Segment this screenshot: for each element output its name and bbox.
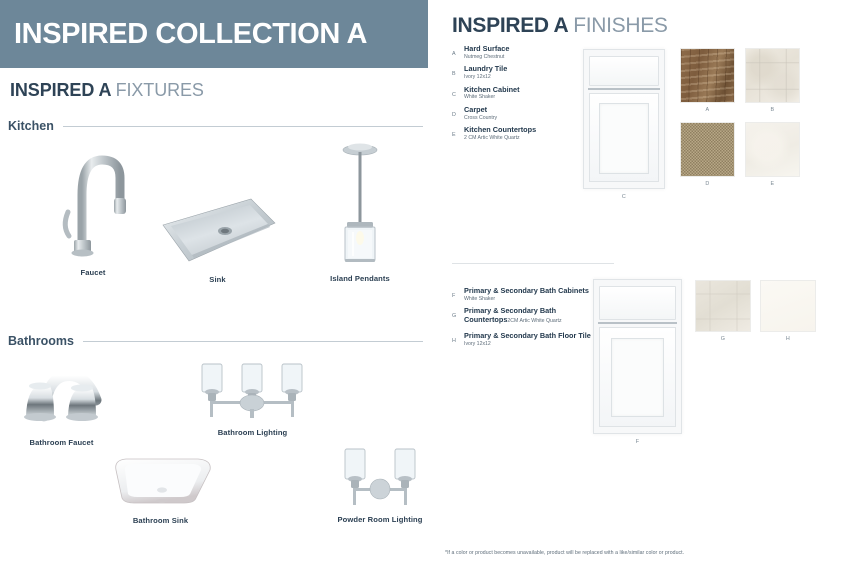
section-header-kitchen: Kitchen <box>8 119 423 133</box>
swatch-image <box>745 48 800 103</box>
cabinet-door-face <box>589 93 659 183</box>
swatch-carpet: D <box>680 122 735 187</box>
legend-name: Primary & Secondary Bath Cabinets <box>464 286 612 295</box>
fixture-label: Faucet <box>38 268 148 277</box>
fixture-label: Powder Room Lighting <box>325 515 435 524</box>
fixture-kitchen-faucet: Faucet <box>38 140 148 277</box>
legend-name: Kitchen Countertops <box>464 125 602 134</box>
legend-item: G Primary & Secondary Bath Countertops2C… <box>452 306 612 325</box>
swatch-laundry-tile: B <box>745 48 800 113</box>
fixture-label: Bathroom Lighting <box>190 428 315 437</box>
legend-key: H <box>452 331 464 344</box>
legend-name: Hard Surface <box>464 44 602 53</box>
cabinet-drawer <box>599 286 676 320</box>
legend-key: D <box>452 105 464 118</box>
bathroom-faucet-icon <box>4 360 119 435</box>
finishes-heading: INSPIRED A FINISHES <box>452 14 668 38</box>
legend-item: C Kitchen Cabinet White Shaker <box>452 85 602 101</box>
section-label-bathrooms: Bathrooms <box>8 334 83 348</box>
legend-item: D Carpet Cross Country <box>452 105 602 121</box>
legend-name: Kitchen Cabinet <box>464 85 602 94</box>
legend-sub: Cross Country <box>464 115 602 122</box>
cabinet-door-graphic <box>593 279 682 434</box>
legend-name: Carpet <box>464 105 602 114</box>
fixtures-heading-bold: INSPIRED A <box>10 80 111 100</box>
collection-banner: INSPIRED COLLECTION A <box>0 0 428 68</box>
section-header-bathrooms: Bathrooms <box>8 334 423 348</box>
fixtures-column: INSPIRED COLLECTION A INSPIRED A FIXTURE… <box>0 0 440 569</box>
fixtures-heading: INSPIRED A FIXTURES <box>10 80 204 101</box>
swatch-kitchen-countertop: E <box>745 122 800 187</box>
kitchen-sink-icon <box>155 195 280 272</box>
swatch-image <box>680 122 735 177</box>
swatch-key: H <box>760 336 816 342</box>
vanity-light-2-icon <box>325 445 435 512</box>
collection-board: INSPIRED COLLECTION A INSPIRED A FIXTURE… <box>0 0 853 569</box>
fixture-island-pendants: Island Pendants <box>305 138 415 283</box>
section-rule-kitchen <box>63 126 423 127</box>
legend-sub-inline: 2CM Artic White Quartz <box>507 318 561 324</box>
disclaimer-text: *If a color or product becomes unavailab… <box>445 550 845 556</box>
kitchen-faucet-icon <box>38 140 148 265</box>
fixture-powder-room-lighting: Powder Room Lighting <box>325 445 435 524</box>
legend-key: F <box>452 286 464 299</box>
fixture-label: Sink <box>155 275 280 284</box>
legend-key: A <box>452 44 464 57</box>
fixture-label: Bathroom Faucet <box>4 438 119 447</box>
cabinet-key: F <box>593 439 682 445</box>
legend-item: E Kitchen Countertops 2 CM Artic White Q… <box>452 125 602 141</box>
legend-item: H Primary & Secondary Bath Floor Tile Iv… <box>452 331 612 347</box>
collection-title: INSPIRED COLLECTION A <box>0 18 367 51</box>
swatch-key: B <box>745 107 800 113</box>
fixture-label: Island Pendants <box>305 274 415 283</box>
fixture-label: Bathroom Sink <box>98 516 223 525</box>
legend-name: Primary & Secondary Bath Countertops2CM … <box>464 306 612 325</box>
legend-item: F Primary & Secondary Bath Cabinets Whit… <box>452 286 612 302</box>
legend-name: Primary & Secondary Bath Floor Tile <box>464 331 612 340</box>
swatch-key: G <box>695 336 751 342</box>
cabinet-center-panel <box>611 338 665 417</box>
legend-sub: Nutmeg Chestnut <box>464 54 602 61</box>
swatch-key: A <box>680 107 735 113</box>
swatch-hard-surface: A <box>680 48 735 113</box>
finishes-legend-secondary: F Primary & Secondary Bath Cabinets Whit… <box>452 286 612 351</box>
fixture-kitchen-sink: Sink <box>155 195 280 284</box>
legend-key: B <box>452 64 464 77</box>
legend-key: G <box>452 306 464 319</box>
cabinet-reveal <box>588 88 660 90</box>
swatch-bath-countertop: G <box>695 280 751 342</box>
legend-item: A Hard Surface Nutmeg Chestnut <box>452 44 602 60</box>
swatch-image <box>760 280 816 332</box>
section-rule-bathrooms <box>83 341 423 342</box>
fixture-bathroom-lighting: Bathroom Lighting <box>190 360 315 437</box>
legend-sub: 2 CM Artic White Quartz <box>464 135 602 142</box>
fixture-bathroom-faucet: Bathroom Faucet <box>4 360 119 447</box>
cabinet-reveal <box>598 322 676 324</box>
swatch-key: D <box>680 181 735 187</box>
vanity-light-3-icon <box>190 360 315 425</box>
finishes-heading-light: FINISHES <box>573 14 667 37</box>
legend-item: B Laundry Tile Ivory 12x12 <box>452 64 602 80</box>
legend-sub: Ivory 12x12 <box>464 341 612 348</box>
swatch-key: E <box>745 181 800 187</box>
cabinet-drawer <box>589 56 659 86</box>
legend-name: Laundry Tile <box>464 64 602 73</box>
pendant-light-icon <box>305 138 415 271</box>
swatch-image <box>680 48 735 103</box>
finishes-heading-bold: INSPIRED A <box>452 14 568 37</box>
cabinet-door-bath: F <box>593 279 682 445</box>
cabinet-door-graphic <box>583 49 665 189</box>
legend-sub: White Shaker <box>464 94 602 101</box>
swatch-bath-floor-tile: H <box>760 280 816 342</box>
cabinet-door-face <box>599 327 676 426</box>
bathroom-sink-icon <box>98 450 223 513</box>
cabinet-door-kitchen: C <box>583 49 665 200</box>
section-divider <box>452 263 614 264</box>
fixture-bathroom-sink: Bathroom Sink <box>98 450 223 525</box>
legend-sub: White Shaker <box>464 296 612 303</box>
legend-key: C <box>452 85 464 98</box>
cabinet-key: C <box>583 194 665 200</box>
cabinet-center-panel <box>599 103 648 174</box>
finishes-legend-primary: A Hard Surface Nutmeg Chestnut B Laundry… <box>452 44 602 146</box>
swatch-image <box>695 280 751 332</box>
finishes-column: INSPIRED A FINISHES A Hard Surface Nutme… <box>440 0 853 569</box>
section-label-kitchen: Kitchen <box>8 119 63 133</box>
fixtures-heading-light: FIXTURES <box>116 80 204 100</box>
legend-sub: Ivory 12x12 <box>464 74 602 81</box>
swatch-image <box>745 122 800 177</box>
legend-key: E <box>452 125 464 138</box>
